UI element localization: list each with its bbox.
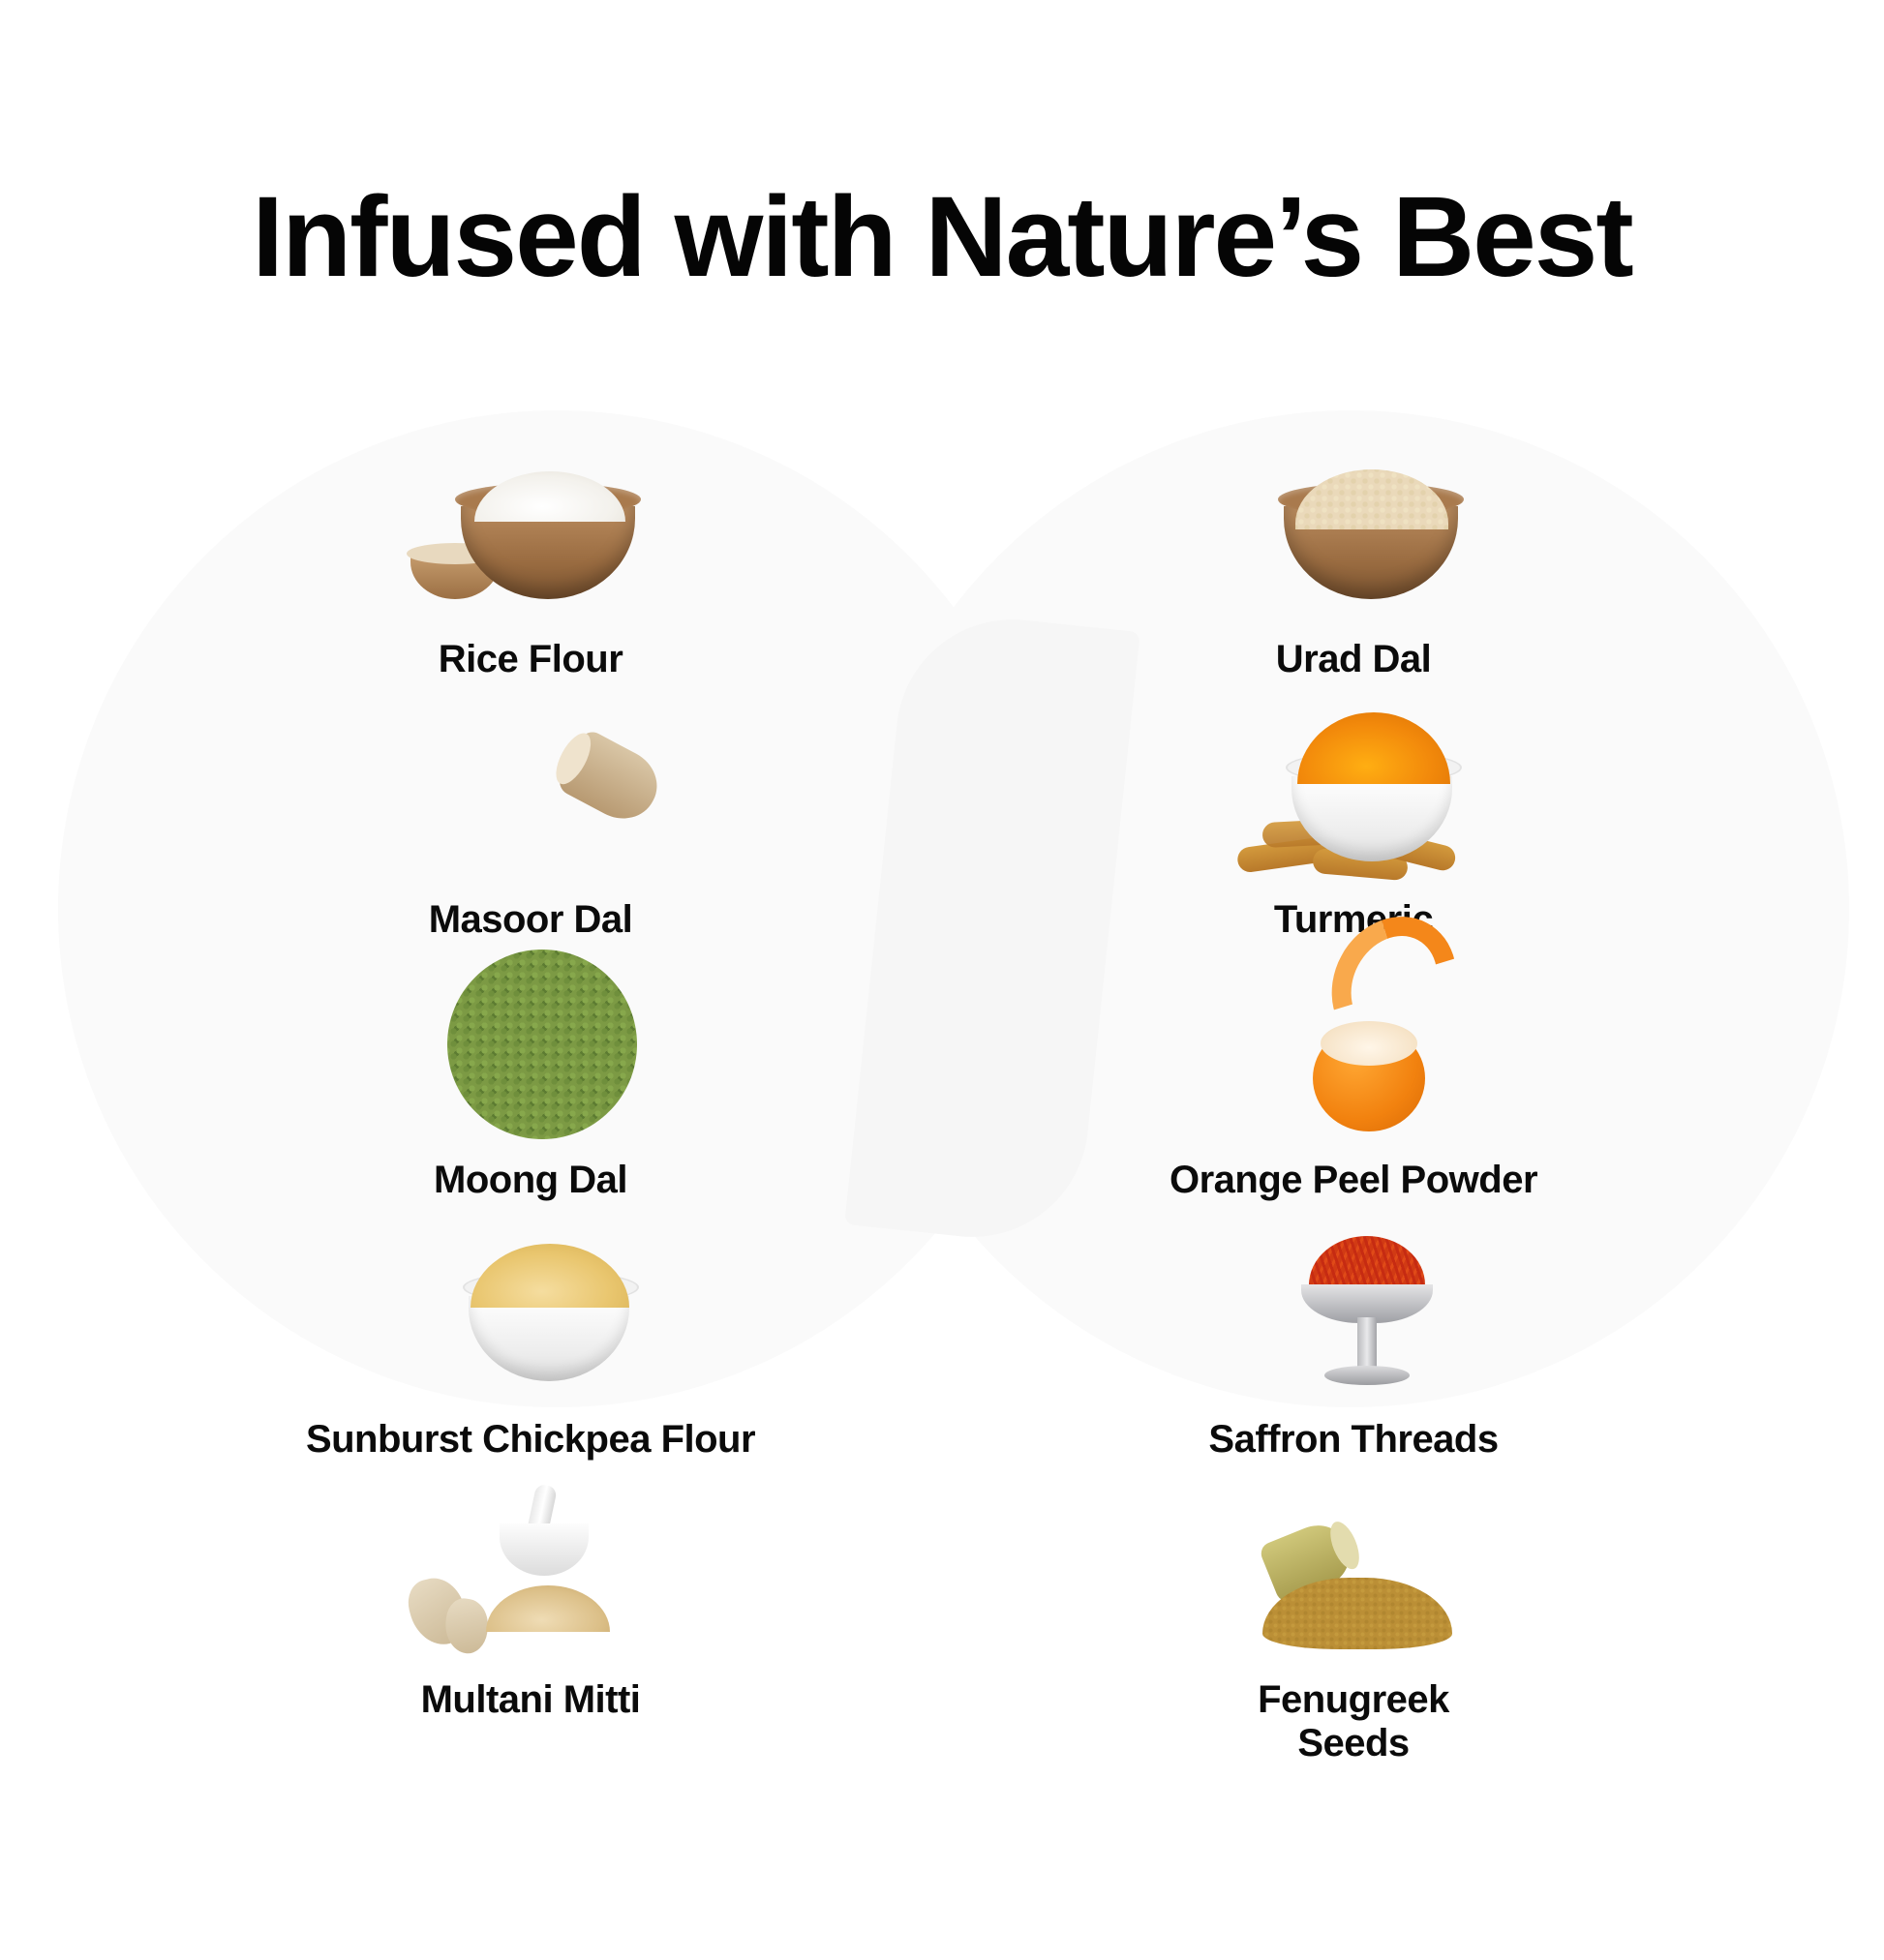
masoor-dal-image bbox=[371, 681, 690, 885]
ingredient-label-multani-mitti: Multani Mitti bbox=[421, 1678, 641, 1722]
ingredient-label-rice-flour: Rice Flour bbox=[439, 638, 623, 681]
ingredient-card-saffron-threads: Saffron Threads bbox=[942, 1201, 1765, 1462]
multani-mitti-image bbox=[371, 1462, 690, 1665]
turmeric-powder-mound-icon bbox=[1297, 712, 1450, 784]
ingredient-card-urad-dal: Urad Dal bbox=[942, 421, 1765, 681]
ingredient-label-fenugreek-seeds: Fenugreek Seeds bbox=[1258, 1678, 1449, 1765]
mortar-icon bbox=[500, 1523, 589, 1576]
fenugreek-seeds-image bbox=[1194, 1462, 1513, 1665]
chickpea-icon bbox=[618, 1360, 643, 1385]
ingredient-card-turmeric: Turmeric bbox=[942, 681, 1765, 942]
white-bowl-icon bbox=[469, 1296, 629, 1381]
ingredient-label-moong-dal: Moong Dal bbox=[434, 1159, 627, 1202]
ingredient-card-chickpea-flour: Sunburst Chickpea Flour bbox=[119, 1201, 942, 1462]
chickpea-flour-mound-icon bbox=[471, 1244, 629, 1308]
page-title: Infused with Nature’s Best bbox=[0, 76, 1884, 298]
silver-base-icon bbox=[1324, 1366, 1410, 1385]
saffron-threads-image bbox=[1194, 1201, 1513, 1404]
moong-beans-circle-icon bbox=[447, 950, 637, 1139]
chickpea-icon bbox=[594, 1372, 620, 1397]
turmeric-image bbox=[1194, 681, 1513, 885]
ingredient-card-masoor-dal: Masoor Dal bbox=[119, 681, 942, 942]
ingredient-label-saffron-threads: Saffron Threads bbox=[1208, 1418, 1498, 1462]
jar-mouth-icon bbox=[1324, 1518, 1365, 1573]
urad-dal-grains-icon bbox=[1295, 469, 1448, 529]
fenugreek-label-line2: Seeds bbox=[1297, 1722, 1409, 1764]
chickpea-flour-image bbox=[371, 1201, 690, 1404]
jar-mouth-icon bbox=[549, 728, 597, 789]
ingredient-label-chickpea-flour: Sunburst Chickpea Flour bbox=[306, 1418, 755, 1462]
ingredient-label-urad-dal: Urad Dal bbox=[1276, 638, 1432, 681]
ingredient-label-masoor-dal: Masoor Dal bbox=[429, 898, 633, 942]
ingredient-card-rice-flour: Rice Flour bbox=[119, 421, 942, 681]
clay-powder-mound-icon bbox=[486, 1585, 610, 1632]
ingredient-card-fenugreek-seeds: Fenugreek Seeds bbox=[942, 1462, 1765, 1765]
silver-stem-icon bbox=[1357, 1317, 1377, 1372]
fenugreek-label-line1: Fenugreek bbox=[1258, 1678, 1449, 1721]
rice-flour-image bbox=[371, 421, 690, 624]
ingredient-card-moong-dal: Moong Dal bbox=[119, 942, 942, 1202]
urad-dal-image bbox=[1194, 421, 1513, 624]
ingredient-label-orange-peel-powder: Orange Peel Powder bbox=[1170, 1159, 1537, 1202]
moong-dal-image bbox=[371, 942, 690, 1145]
ingredient-grid: Rice Flour Urad Dal Masoor Dal bbox=[119, 375, 1765, 1765]
ingredient-card-multani-mitti: Multani Mitti bbox=[119, 1462, 942, 1765]
orange-peel-powder-image bbox=[1194, 942, 1513, 1145]
ingredient-card-orange-peel-powder: Orange Peel Powder bbox=[942, 942, 1765, 1202]
rice-flour-mound-icon bbox=[474, 471, 625, 522]
saffron-threads-icon bbox=[1309, 1236, 1425, 1290]
